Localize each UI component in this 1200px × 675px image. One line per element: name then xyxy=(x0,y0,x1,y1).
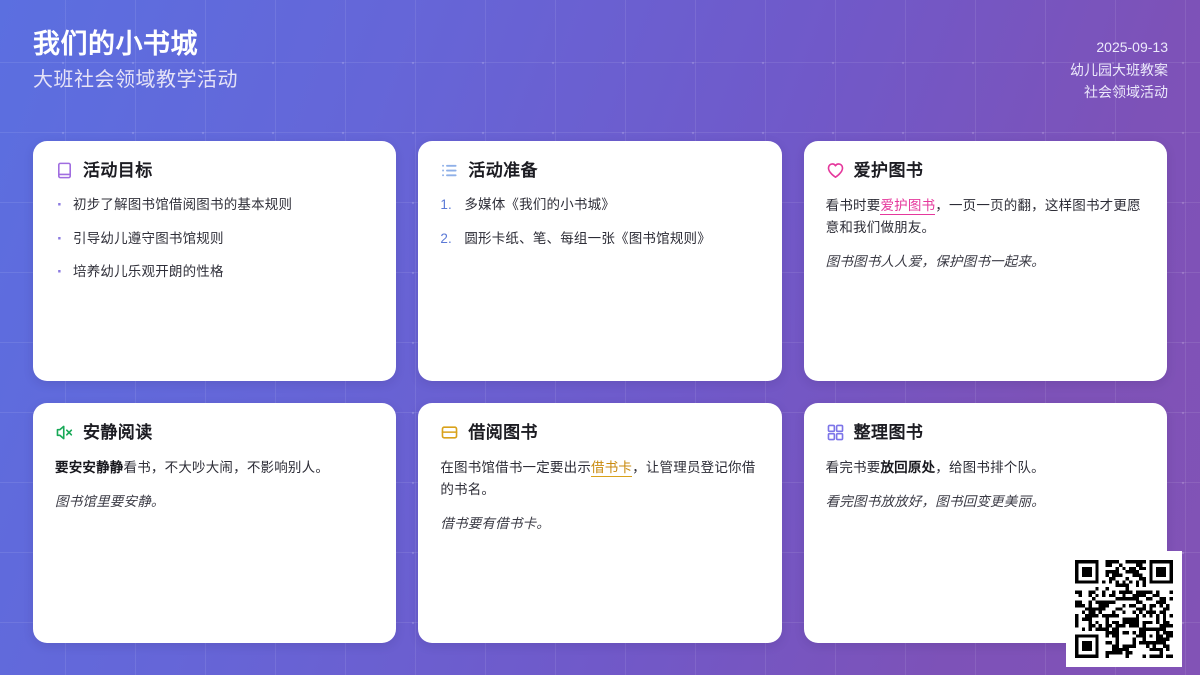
card-quote: 看完图书放放好，图书回变更美丽。 xyxy=(826,492,1145,513)
list-item: 培养幼儿乐观开朗的性格 xyxy=(55,262,374,282)
list-item: 圆形卡纸、笔、每组一张《图书馆规则》 xyxy=(440,229,759,249)
card-title: 活动准备 xyxy=(468,162,538,179)
grid-icon xyxy=(826,423,845,442)
card-title: 安静阅读 xyxy=(83,424,153,441)
emphasis-text: 放回原处 xyxy=(880,460,935,475)
book-icon xyxy=(55,161,74,180)
card-title: 活动目标 xyxy=(83,162,153,179)
card-care-for-books[interactable]: 爱护图书看书时要爱护图书，一页一页的翻，这样图书才更愿意和我们做朋友。图书图书人… xyxy=(804,141,1167,381)
card-body-text: 看书时要爱护图书，一页一页的翻，这样图书才更愿意和我们做朋友。 xyxy=(826,195,1145,239)
card-quote: 图书图书人人爱，保护图书一起来。 xyxy=(826,252,1145,273)
title-block: 我们的小书城 大班社会领域教学活动 xyxy=(33,26,238,93)
qr-code-image xyxy=(1075,560,1173,658)
list-item: 引导幼儿遵守图书馆规则 xyxy=(55,229,374,249)
page-title: 我们的小书城 xyxy=(33,26,238,62)
card-header: 活动目标 xyxy=(55,161,374,180)
plain-text: 看书时要 xyxy=(826,198,881,213)
list-item: 多媒体《我们的小书城》 xyxy=(440,195,759,215)
card-title: 借阅图书 xyxy=(468,424,538,441)
card-header: 爱护图书 xyxy=(826,161,1145,180)
card-body-text: 要安安静静看书，不大吵大闹，不影响别人。 xyxy=(55,457,374,479)
card-list: 初步了解图书馆借阅图书的基本规则引导幼儿遵守图书馆规则培养幼儿乐观开朗的性格 xyxy=(55,195,374,296)
card-body-text: 在图书馆借书一定要出示借书卡，让管理员登记你借的书名。 xyxy=(440,457,759,501)
qr-code[interactable] xyxy=(1066,551,1182,667)
card-list: 多媒体《我们的小书城》圆形卡纸、笔、每组一张《图书馆规则》 xyxy=(440,195,759,262)
meta-domain: 社会领域活动 xyxy=(1084,81,1168,104)
plain-text: 在图书馆借书一定要出示 xyxy=(440,460,591,475)
card-icon xyxy=(440,423,459,442)
plain-text: 看书，不大吵大闹，不影响别人。 xyxy=(124,460,330,475)
card-borrow-books[interactable]: 借阅图书在图书馆借书一定要出示借书卡，让管理员登记你借的书名。借书要有借书卡。 xyxy=(418,403,781,643)
card-quiet-reading[interactable]: 安静阅读要安安静静看书，不大吵大闹，不影响别人。图书馆里要安静。 xyxy=(33,403,396,643)
card-body-text: 看完书要放回原处，给图书排个队。 xyxy=(826,457,1145,479)
emphasis-text: 安安静静 xyxy=(69,460,124,475)
list-icon xyxy=(440,161,459,180)
meta-category: 幼儿园大班教案 xyxy=(1070,59,1168,82)
card-quote: 图书馆里要安静。 xyxy=(55,492,374,513)
card-header: 活动准备 xyxy=(440,161,759,180)
header-meta: 2025-09-13 幼儿园大班教案 社会领域活动 xyxy=(1070,26,1168,104)
card-header: 借阅图书 xyxy=(440,423,759,442)
card-title: 整理图书 xyxy=(854,424,924,441)
highlight-keyword[interactable]: 借书卡 xyxy=(591,460,632,477)
page-header: 我们的小书城 大班社会领域教学活动 2025-09-13 幼儿园大班教案 社会领… xyxy=(0,0,1200,122)
list-item: 初步了解图书馆借阅图书的基本规则 xyxy=(55,195,374,215)
card-title: 爱护图书 xyxy=(854,162,924,179)
card-activity-preparation[interactable]: 活动准备多媒体《我们的小书城》圆形卡纸、笔、每组一张《图书馆规则》 xyxy=(418,141,781,381)
speaker-mute-icon xyxy=(55,423,74,442)
heart-icon xyxy=(826,161,845,180)
highlight-keyword[interactable]: 爱护图书 xyxy=(880,198,935,215)
card-quote: 借书要有借书卡。 xyxy=(440,514,759,535)
card-grid: 活动目标初步了解图书馆借阅图书的基本规则引导幼儿遵守图书馆规则培养幼儿乐观开朗的… xyxy=(33,141,1167,643)
meta-date: 2025-09-13 xyxy=(1096,36,1168,59)
plain-text: ，给图书排个队。 xyxy=(935,460,1045,475)
card-activity-goals[interactable]: 活动目标初步了解图书馆借阅图书的基本规则引导幼儿遵守图书馆规则培养幼儿乐观开朗的… xyxy=(33,141,396,381)
card-header: 整理图书 xyxy=(826,423,1145,442)
page-subtitle: 大班社会领域教学活动 xyxy=(33,67,238,93)
card-header: 安静阅读 xyxy=(55,423,374,442)
emphasis-text: 要 xyxy=(55,460,69,475)
plain-text: 看完书要 xyxy=(826,460,881,475)
